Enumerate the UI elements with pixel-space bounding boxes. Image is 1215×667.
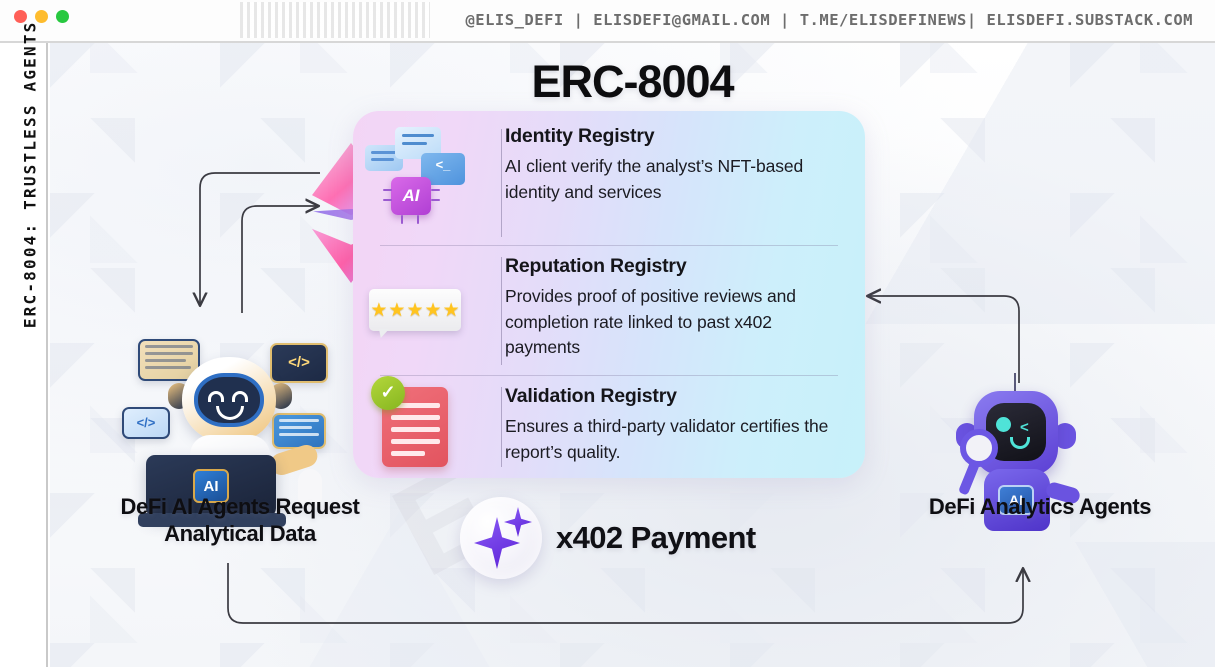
star-icon: ★ — [425, 299, 442, 322]
registry-row-validation[interactable]: ✓ Validation Registry Ensures a third-pa… — [353, 375, 865, 478]
code-card-small-icon: </> — [122, 407, 170, 439]
validated-document-icon: ✓ — [353, 375, 477, 478]
caption-defi-ai-agents: DeFi AI Agents Request Analytical Data — [70, 493, 410, 548]
robot-eye — [996, 417, 1011, 432]
window-chrome: @ELIS_DEFI | ELISDEFI@GMAIL.COM | T.ME/E… — [0, 0, 1215, 42]
registry-row-reputation[interactable]: ★ ★ ★ ★ ★ Reputation Registry Provides p… — [353, 245, 865, 375]
registry-card: <_ AI Identity Registry AI client verify… — [353, 111, 865, 478]
sparkle-small — [504, 507, 532, 537]
registry-body: AI client verify the analyst’s NFT-based… — [505, 154, 841, 205]
maximize-window-button[interactable] — [56, 10, 69, 23]
robot-smile — [216, 406, 244, 420]
magnifier-icon — [960, 429, 998, 467]
data-card-icon — [272, 413, 326, 449]
slide-canvas: E ERC-8004 — [50, 43, 1215, 667]
registry-heading: Validation Registry — [505, 385, 841, 408]
five-star-review-icon: ★ ★ ★ ★ ★ — [353, 245, 477, 375]
registry-heading: Reputation Registry — [505, 255, 841, 278]
check-badge-icon: ✓ — [371, 376, 405, 410]
robot-smile — [1010, 437, 1030, 449]
robot-face — [194, 373, 264, 427]
x402-payment-group: x402 Payment — [460, 493, 810, 583]
robot-wink-eye: < — [1020, 419, 1029, 436]
side-rail-label: ERC-8004: TRUSTLESS AGENTS — [21, 21, 40, 641]
registry-body: Ensures a third-party validator certifie… — [505, 414, 841, 465]
sparkle-large — [474, 517, 520, 569]
star-icon: ★ — [388, 299, 405, 322]
page-title: ERC-8004 — [50, 56, 1215, 108]
x402-payment-label: x402 Payment — [556, 520, 756, 556]
registry-heading: Identity Registry — [505, 125, 841, 148]
star-icon: ★ — [443, 299, 460, 322]
ai-chip-icon: AI — [391, 177, 431, 215]
star-icon: ★ — [370, 299, 387, 322]
robot-eye-right — [232, 391, 248, 402]
sparkle-orb-icon — [460, 497, 542, 579]
banner-tail — [379, 329, 389, 338]
code-card-icon: </> — [270, 343, 328, 383]
registry-body: Provides proof of positive reviews and c… — [505, 284, 841, 361]
robot-eye-left — [208, 391, 224, 402]
registry-row-identity[interactable]: <_ AI Identity Registry AI client verify… — [353, 111, 865, 245]
ai-chat-chip-icon: <_ AI — [353, 111, 477, 245]
side-rail: ERC-8004: TRUSTLESS AGENTS — [0, 43, 48, 667]
caption-defi-analytics-agents: DeFi Analytics Agents — [895, 493, 1185, 520]
contact-bar: @ELIS_DEFI | ELISDEFI@GMAIL.COM | T.ME/E… — [430, 7, 1205, 33]
star-icon: ★ — [406, 299, 423, 322]
barcode-decoration — [240, 2, 430, 38]
